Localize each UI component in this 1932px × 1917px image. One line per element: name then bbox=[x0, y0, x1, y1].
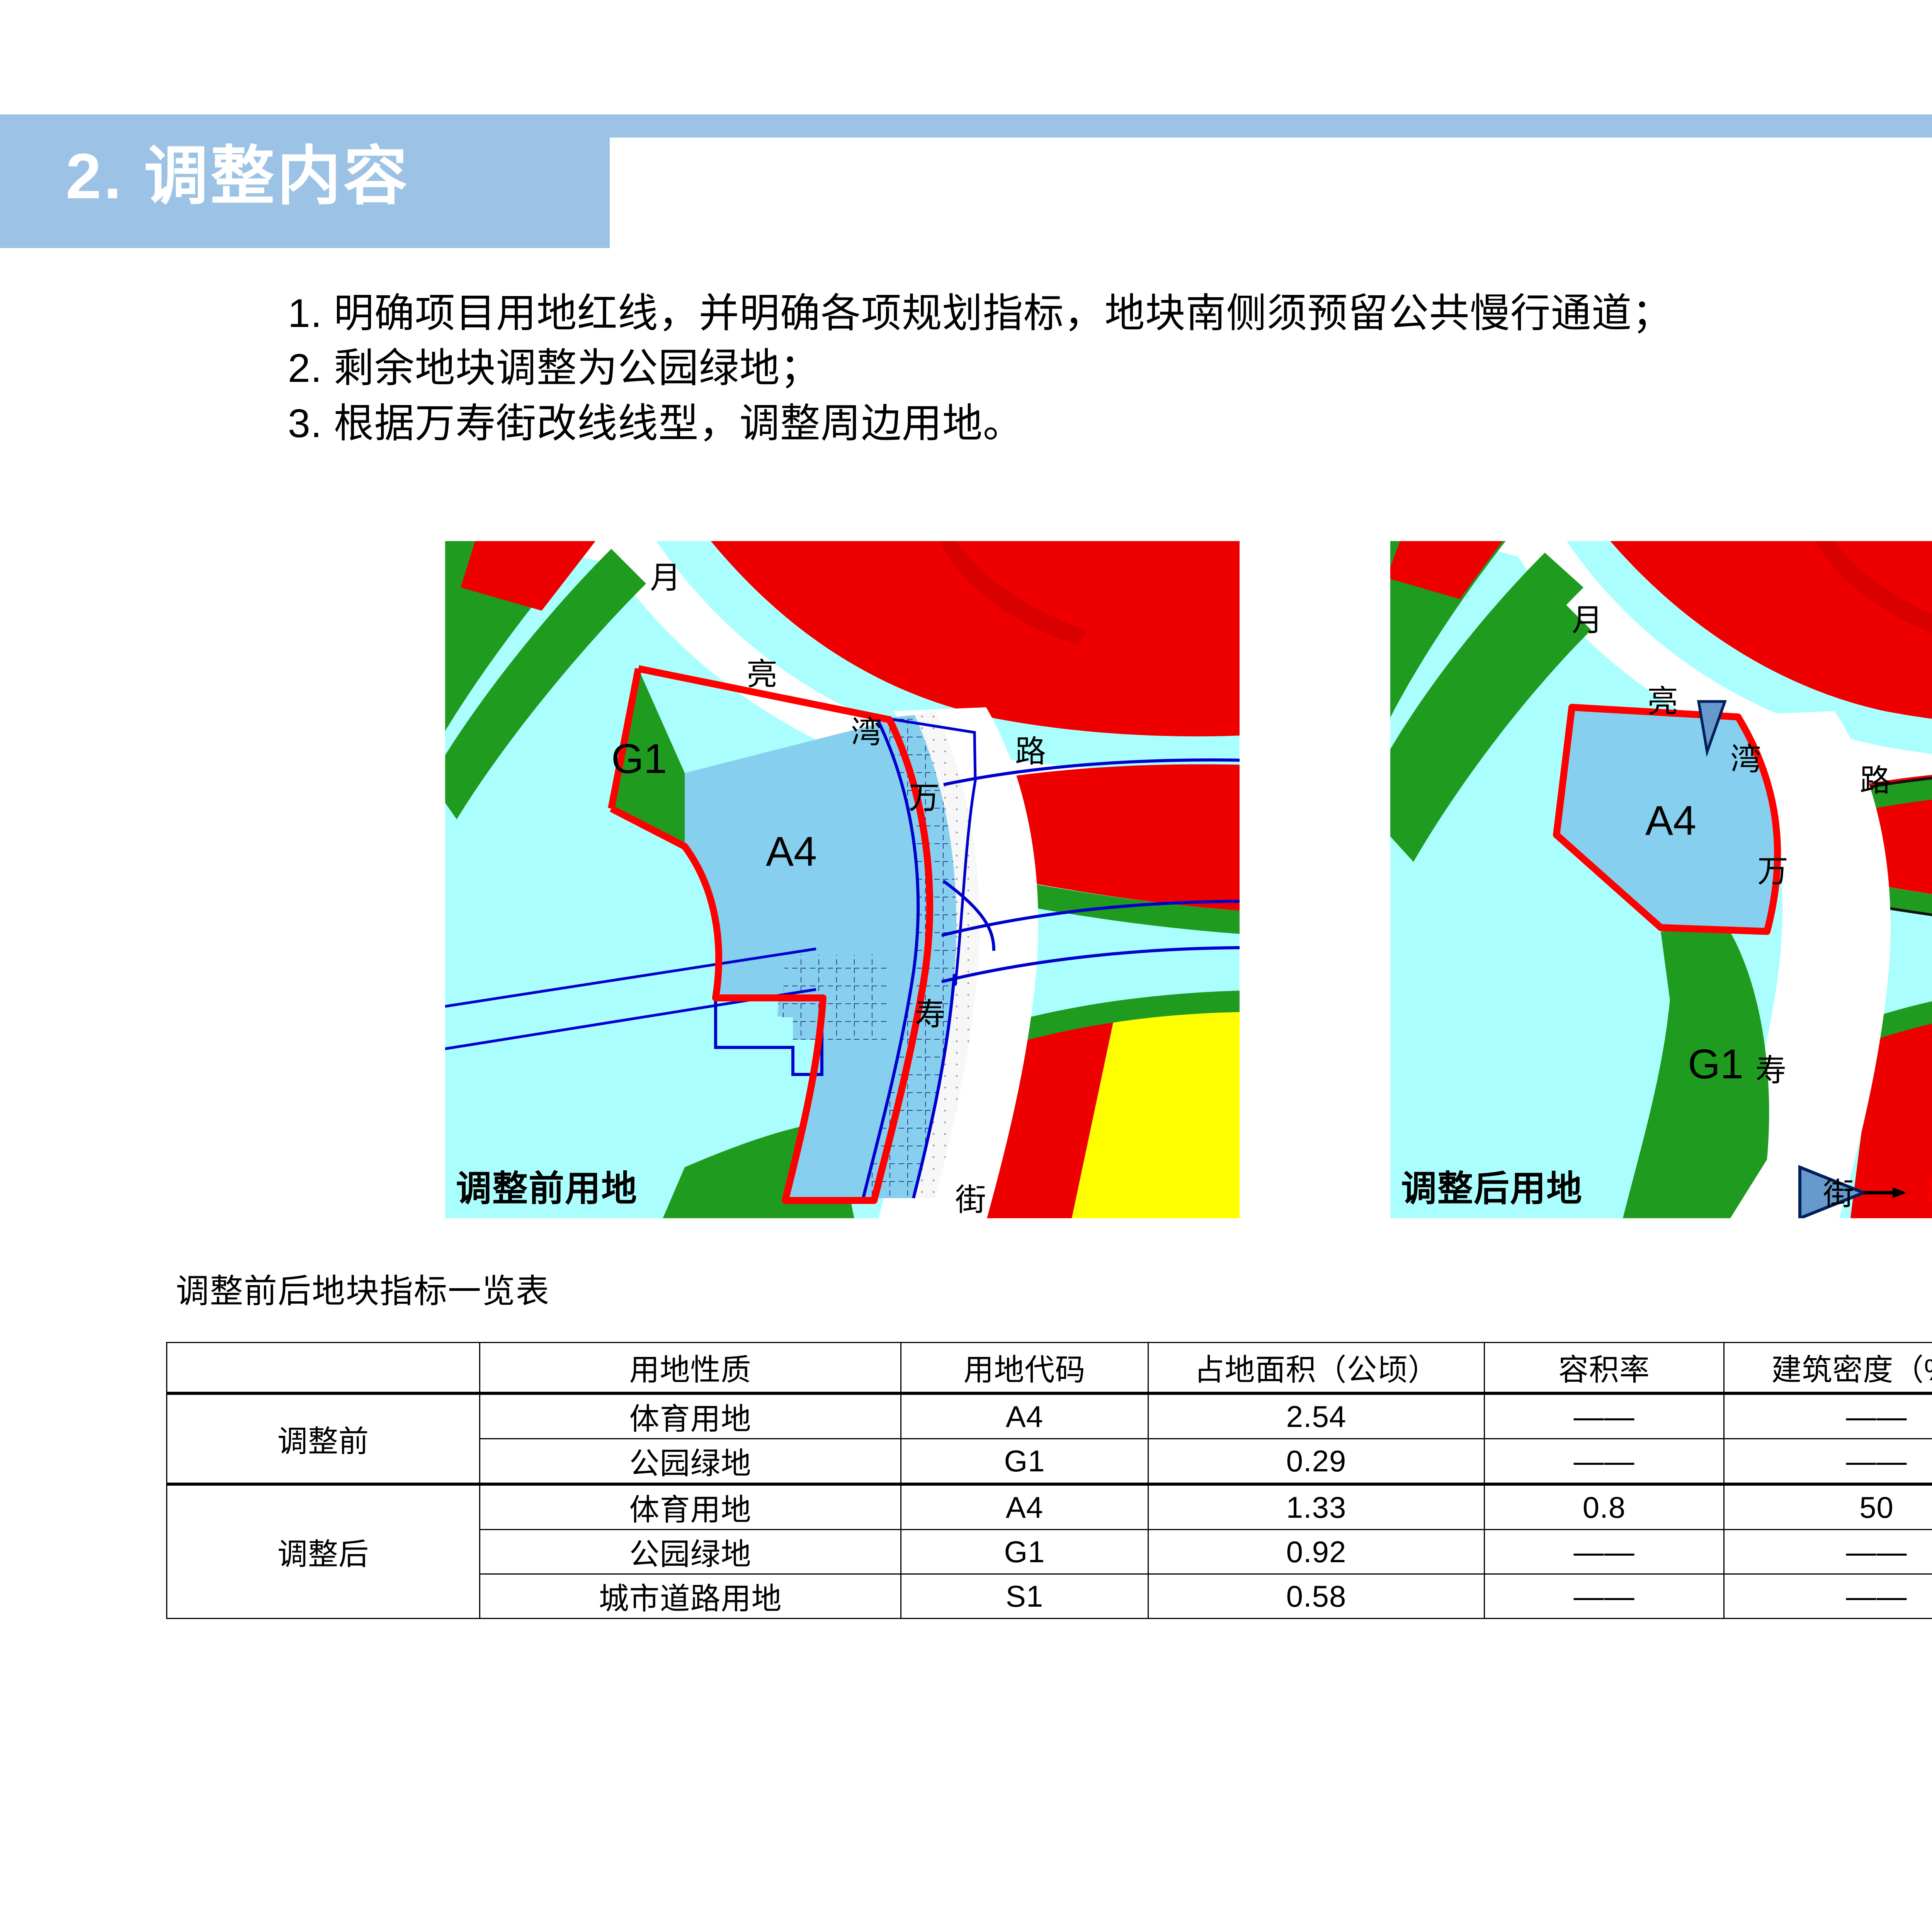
cell-code: A4 bbox=[901, 1484, 1148, 1530]
map-before-graphic bbox=[445, 541, 1240, 1218]
cell-area: 0.58 bbox=[1148, 1574, 1485, 1619]
cell-area: 0.92 bbox=[1148, 1530, 1485, 1574]
cell-area: 1.33 bbox=[1148, 1484, 1485, 1530]
cell-density: —— bbox=[1724, 1393, 1932, 1439]
road-label: 月 bbox=[650, 553, 681, 598]
road-label: 路 bbox=[1015, 727, 1046, 771]
map-caption-before: 调整前用地 bbox=[456, 1160, 638, 1211]
header-accent-strip bbox=[0, 114, 1932, 138]
map-after-adjustment[interactable]: 月 亮 湾 路 万 寿 街 A4 G1 调整后用地 出入口建议位置 bbox=[1390, 541, 1932, 1218]
list-item: 3. 根据万寿街改线线型，调整周边用地。 bbox=[288, 396, 1932, 451]
zone-label-g1: G1 bbox=[611, 734, 667, 783]
map-before-adjustment[interactable]: 月 亮 湾 路 万 寿 街 G1 A4 调整前用地 bbox=[445, 541, 1240, 1218]
indicator-table: 用地性质 用地代码 占地面积（公顷） 容积率 建筑密度（%） 建筑限高（米） 绿… bbox=[166, 1342, 1932, 1619]
table-header-row: 用地性质 用地代码 占地面积（公顷） 容积率 建筑密度（%） 建筑限高（米） 绿… bbox=[167, 1343, 1932, 1394]
table-row: 调整后 体育用地 A4 1.33 0.8 50 16 20 bbox=[167, 1484, 1932, 1530]
cell-far: —— bbox=[1485, 1439, 1724, 1485]
cell-area: 2.54 bbox=[1148, 1393, 1485, 1439]
cell-nature: 公园绿地 bbox=[480, 1530, 901, 1574]
road-label: 街 bbox=[955, 1175, 986, 1218]
road-label: 街 bbox=[1823, 1169, 1854, 1214]
th-corner bbox=[167, 1343, 480, 1394]
cell-area: 0.29 bbox=[1148, 1439, 1485, 1485]
cell-nature: 公园绿地 bbox=[480, 1439, 901, 1485]
zone-label-g1: G1 bbox=[1688, 1040, 1743, 1088]
cell-far: —— bbox=[1485, 1574, 1724, 1619]
cell-code: A4 bbox=[901, 1393, 1148, 1439]
th-area: 占地面积（公顷） bbox=[1148, 1343, 1485, 1394]
road-label: 路 bbox=[1860, 756, 1891, 800]
slide-root: 地块2：月亮湾路南、万寿街西地块 2. 调整内容 1. 明确项目用地红线，并明确… bbox=[0, 0, 1932, 1917]
table-row: 调整前 体育用地 A4 2.54 —— —— —— —— bbox=[167, 1393, 1932, 1439]
adjustment-list: 1. 明确项目用地红线，并明确各项规划指标，地块南侧须预留公共慢行通道； 2. … bbox=[288, 286, 1932, 451]
cell-nature: 体育用地 bbox=[480, 1393, 901, 1439]
cell-density: —— bbox=[1724, 1574, 1932, 1619]
group-label-before: 调整前 bbox=[167, 1393, 480, 1484]
cell-code: S1 bbox=[901, 1574, 1148, 1619]
road-label: 寿 bbox=[915, 989, 946, 1034]
cell-far: —— bbox=[1485, 1530, 1724, 1574]
cell-density: —— bbox=[1724, 1530, 1932, 1574]
th-code: 用地代码 bbox=[901, 1343, 1148, 1394]
road-label: 万 bbox=[1757, 846, 1788, 891]
road-label: 湾 bbox=[851, 707, 882, 752]
map-caption-after: 调整后用地 bbox=[1401, 1160, 1583, 1211]
road-label: 湾 bbox=[1730, 734, 1761, 779]
cell-code: G1 bbox=[901, 1439, 1148, 1485]
cell-far: —— bbox=[1485, 1393, 1724, 1439]
section-title: 2. 调整内容 bbox=[66, 145, 410, 209]
road-label: 万 bbox=[909, 773, 940, 818]
map-after-graphic bbox=[1390, 541, 1932, 1218]
cell-density: 50 bbox=[1724, 1484, 1932, 1530]
road-label: 亮 bbox=[747, 649, 777, 694]
cell-code: G1 bbox=[901, 1530, 1148, 1574]
legend-entrance-label: 出入口建议位置 bbox=[1925, 1168, 1932, 1210]
th-nature: 用地性质 bbox=[480, 1343, 901, 1394]
th-far: 容积率 bbox=[1485, 1343, 1724, 1394]
cell-nature: 城市道路用地 bbox=[480, 1574, 901, 1619]
cell-nature: 体育用地 bbox=[480, 1484, 901, 1530]
group-label-after: 调整后 bbox=[167, 1484, 480, 1619]
table-caption: 调整前后地块指标一览表 bbox=[176, 1264, 550, 1312]
road-label: 亮 bbox=[1647, 676, 1678, 721]
list-item: 2. 剩余地块调整为公园绿地； bbox=[288, 341, 1932, 396]
road-label: 月 bbox=[1572, 595, 1603, 640]
cell-density: —— bbox=[1724, 1439, 1932, 1485]
list-item: 1. 明确项目用地红线，并明确各项规划指标，地块南侧须预留公共慢行通道； bbox=[288, 286, 1932, 341]
th-density: 建筑密度（%） bbox=[1724, 1343, 1932, 1394]
zone-label-a4: A4 bbox=[1645, 796, 1696, 844]
road-label: 寿 bbox=[1755, 1045, 1786, 1090]
cell-far: 0.8 bbox=[1485, 1484, 1724, 1530]
zone-label-a4: A4 bbox=[766, 827, 817, 875]
